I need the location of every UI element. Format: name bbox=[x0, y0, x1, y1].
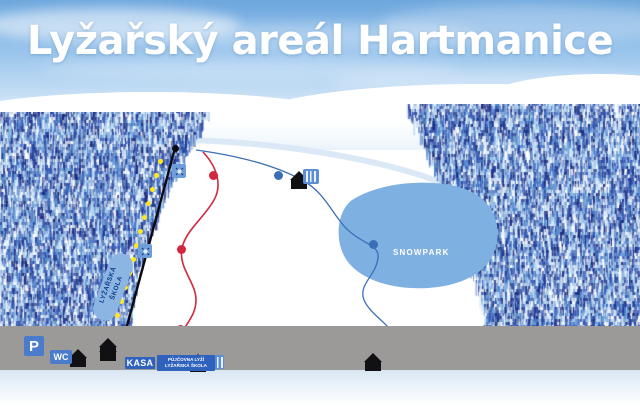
ski-resort-map: Lyžařský areál Hartmanice SNOWPARK bbox=[0, 0, 640, 406]
ski-lift-icon[interactable] bbox=[138, 244, 152, 258]
parking-icon[interactable]: P bbox=[24, 336, 44, 356]
foreground-snow bbox=[0, 370, 640, 406]
ski-rental-line2: LYŽAŘSKÁ ŠKOLA bbox=[165, 364, 207, 369]
ski-rental-badge[interactable]: PŮJČOVNA LYŽÍ LYŽAŘSKÁ ŠKOLA bbox=[157, 355, 215, 371]
lift-pylon-dot bbox=[158, 159, 163, 164]
ski-lift-icon[interactable] bbox=[172, 164, 186, 178]
wc-icon[interactable]: WC bbox=[50, 350, 72, 364]
restaurant-icon[interactable] bbox=[303, 169, 319, 184]
fork-knife-glyph bbox=[303, 169, 319, 184]
lift-top-station bbox=[172, 145, 179, 152]
road bbox=[0, 326, 640, 374]
cash-desk-badge[interactable]: KASA bbox=[125, 357, 155, 369]
ski-rental-line1: PŮJČOVNA LYŽÍ bbox=[168, 358, 204, 363]
